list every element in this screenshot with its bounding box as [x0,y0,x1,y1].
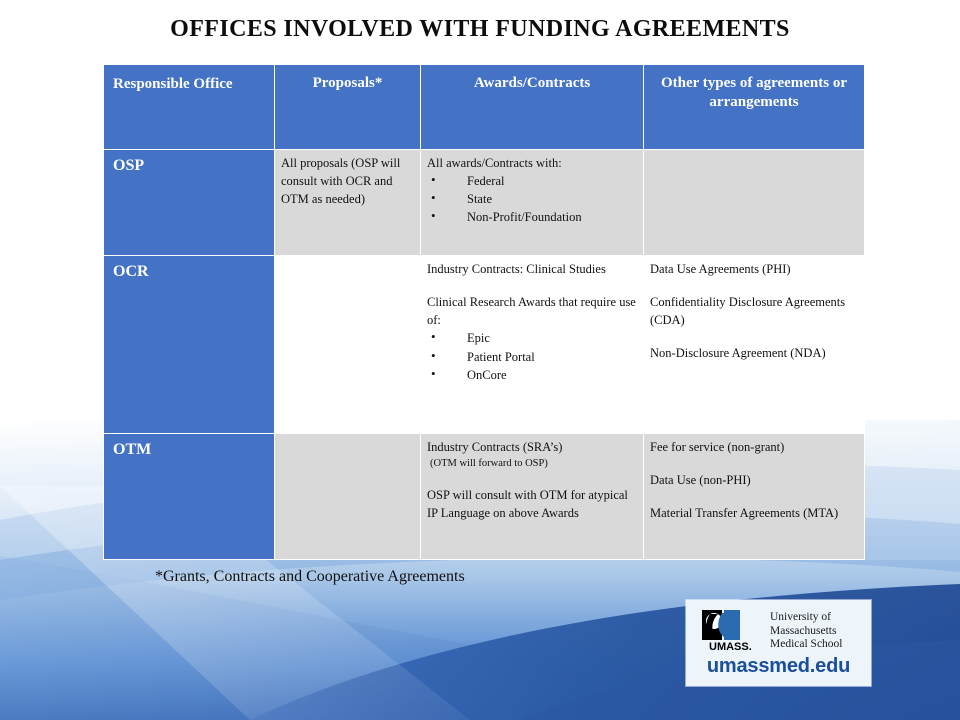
logo-line-3: Medical School [770,638,843,652]
cell-osp-awards: All awards/Contracts with: Federal State… [421,150,644,256]
logo-line-1: University of [770,611,843,625]
text-line: Clinical Research Awards that require us… [427,293,637,329]
umass-seal-icon: UMASS. [700,610,762,652]
logo-institution-name: University of Massachusetts Medical Scho… [770,611,843,652]
cell-ocr-awards: Industry Contracts: Clinical Studies Cli… [421,256,644,434]
cell-ocr-proposals [275,256,421,434]
column-header-proposals: Proposals* [275,65,421,150]
table-row: OTM Industry Contracts (SRA’s) (OTM will… [104,434,865,560]
list-item: State [427,190,637,208]
row-office-ocr: OCR [104,256,275,434]
column-header-responsible-office: Responsible Office [104,65,275,150]
text-line: Industry Contracts: Clinical Studies [427,260,637,278]
text-line: Confidentiality Disclosure Agreements (C… [650,293,858,329]
bullet-list: Federal State Non-Profit/Foundation [427,172,637,226]
bullet-list: Epic Patient Portal OnCore [427,329,637,383]
logo-lockup: UMASS. University of Massachusetts Medic… [700,610,843,652]
cell-osp-other [644,150,865,256]
text-line: Fee for service (non-grant) [650,438,858,456]
column-header-awards-contracts: Awards/Contracts [421,65,644,150]
text-line: All awards/Contracts with: [427,154,637,172]
logo-url-text: umassmed.edu [686,655,871,678]
row-office-otm: OTM [104,434,275,560]
logo-line-2: Massachusetts [770,625,843,639]
text-line: Data Use Agreements (PHI) [650,260,858,278]
list-item: Non-Profit/Foundation [427,208,637,226]
slide-canvas: OFFICES INVOLVED WITH FUNDING AGREEMENTS… [0,0,960,720]
table-header-row: Responsible Office Proposals* Awards/Con… [104,65,865,150]
text-line: Data Use (non-PHI) [650,471,858,489]
column-header-other-agreements: Other types of agreements or arrangement… [644,65,865,150]
cell-otm-awards: Industry Contracts (SRA’s) (OTM will for… [421,434,644,560]
text-line: Industry Contracts (SRA’s) [427,438,637,456]
umass-logo-block: UMASS. University of Massachusetts Medic… [686,600,871,686]
text-line: Material Transfer Agreements (MTA) [650,504,858,522]
list-item: Epic [427,329,637,347]
text-line: OSP will consult with OTM for atypical I… [427,486,637,522]
offices-funding-table: Responsible Office Proposals* Awards/Con… [103,64,865,560]
cell-otm-proposals [275,434,421,560]
row-office-osp: OSP [104,150,275,256]
table-row: OSP All proposals (OSP will consult with… [104,150,865,256]
text-line: All proposals (OSP will consult with OCR… [281,154,414,208]
text-line: Non-Disclosure Agreement (NDA) [650,344,858,362]
cell-otm-other: Fee for service (non-grant) Data Use (no… [644,434,865,560]
table-row: OCR Industry Contracts: Clinical Studies… [104,256,865,434]
cell-ocr-other: Data Use Agreements (PHI) Confidentialit… [644,256,865,434]
cell-osp-proposals: All proposals (OSP will consult with OCR… [275,150,421,256]
list-item: Patient Portal [427,348,637,366]
list-item: Federal [427,172,637,190]
list-item: OnCore [427,366,637,384]
page-title: OFFICES INVOLVED WITH FUNDING AGREEMENTS [0,16,960,43]
logo-mark-text: UMASS. [709,641,752,652]
text-line-note: (OTM will forward to OSP) [427,456,637,471]
footnote-text: *Grants, Contracts and Cooperative Agree… [155,568,465,586]
